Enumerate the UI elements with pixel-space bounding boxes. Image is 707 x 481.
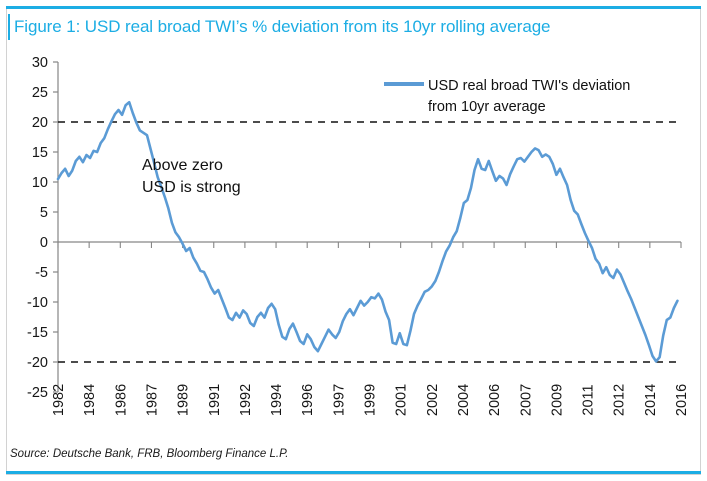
- x-tick-label-10: 1999: [363, 384, 379, 416]
- x-tick-label-6: 1992: [238, 384, 254, 416]
- above-zero-note-line1: Above zero: [142, 157, 223, 174]
- y-tick-label-0: 30: [32, 55, 48, 71]
- x-tick-label-8: 1996: [300, 384, 316, 416]
- series-line-0: [58, 102, 677, 361]
- x-tick-label-5: 1991: [207, 384, 223, 416]
- y-tick-label-8: -10: [27, 295, 48, 311]
- x-tick-label-12: 2002: [425, 384, 441, 416]
- y-tick-label-9: -15: [27, 325, 48, 341]
- chart-plot-area: 302520151050-5-10-15-20-2519821984198619…: [0, 0, 707, 481]
- x-tick-label-2: 1986: [113, 384, 129, 416]
- line-chart: 302520151050-5-10-15-20-2519821984198619…: [0, 0, 707, 481]
- y-tick-label-11: -25: [27, 385, 48, 401]
- x-tick-label-4: 1989: [176, 384, 192, 416]
- source-note: Source: Deutsche Bank, FRB, Bloomberg Fi…: [10, 448, 289, 460]
- x-tick-label-14: 2006: [487, 384, 503, 416]
- y-tick-label-2: 20: [32, 115, 48, 131]
- legend-label-line1: USD real broad TWI's deviation: [428, 78, 630, 94]
- x-tick-label-19: 2014: [643, 384, 659, 416]
- x-tick-label-1: 1984: [82, 384, 98, 416]
- above-zero-note-line2: USD is strong: [142, 179, 241, 196]
- x-tick-label-11: 2001: [394, 384, 410, 416]
- x-tick-label-3: 1987: [144, 384, 160, 416]
- legend-label-line2: from 10yr average: [428, 99, 546, 115]
- y-tick-label-1: 25: [32, 85, 48, 101]
- x-tick-label-9: 1997: [331, 384, 347, 416]
- x-tick-label-18: 2012: [612, 384, 628, 416]
- y-tick-label-10: -20: [27, 355, 48, 371]
- x-tick-label-16: 2009: [549, 384, 565, 416]
- y-tick-label-4: 10: [32, 175, 48, 191]
- x-tick-label-7: 1994: [269, 384, 285, 416]
- y-tick-label-6: 0: [40, 235, 48, 251]
- x-tick-label-17: 2011: [581, 384, 597, 415]
- y-tick-label-5: 5: [40, 205, 48, 221]
- x-tick-label-0: 1982: [51, 384, 67, 416]
- figure-container: Figure 1: USD real broad TWI’s % deviati…: [0, 0, 707, 481]
- x-tick-label-20: 2016: [674, 384, 690, 416]
- x-tick-label-15: 2007: [518, 384, 534, 416]
- y-tick-label-3: 15: [32, 145, 48, 161]
- y-tick-label-7: -5: [35, 265, 48, 281]
- x-tick-label-13: 2004: [456, 384, 472, 416]
